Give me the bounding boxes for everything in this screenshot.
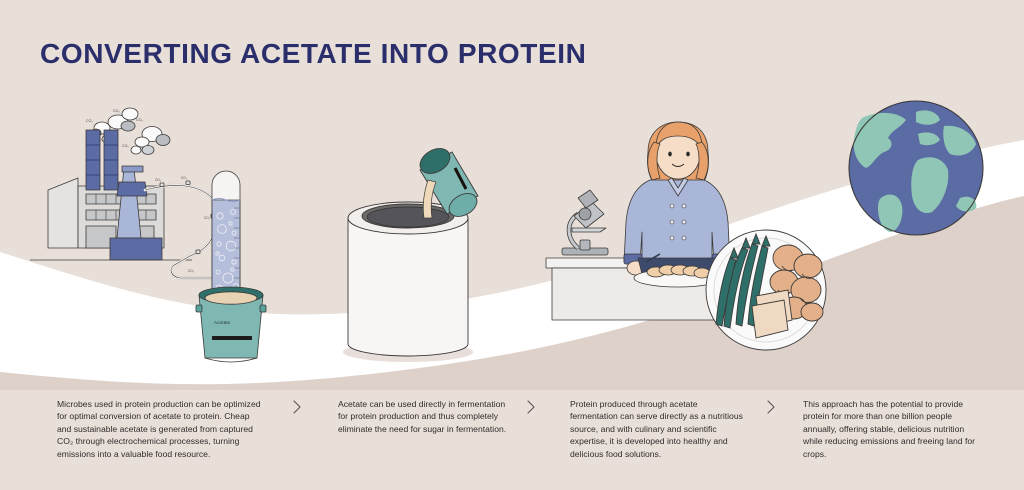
step-separator-3-icon [764,398,778,416]
step-2-caption: Acetate can be used directly in fermenta… [338,398,514,435]
step-3-caption: Protein produced through acetate ferment… [570,398,746,460]
step-1-caption: Microbes used in protein production can … [57,398,261,460]
globe [849,101,983,235]
step-separator-2-icon [524,398,538,416]
caption-row: Microbes used in protein production can … [0,392,1024,490]
page-title: CONVERTING ACETATE INTO PROTEIN [40,38,586,70]
step-separator-1-icon [290,398,304,416]
infographic-canvas: CO₂ CO₂ CO₂ CO₂ CO₂ [0,0,1024,490]
step-4-caption: This approach has the potential to provi… [803,398,983,460]
